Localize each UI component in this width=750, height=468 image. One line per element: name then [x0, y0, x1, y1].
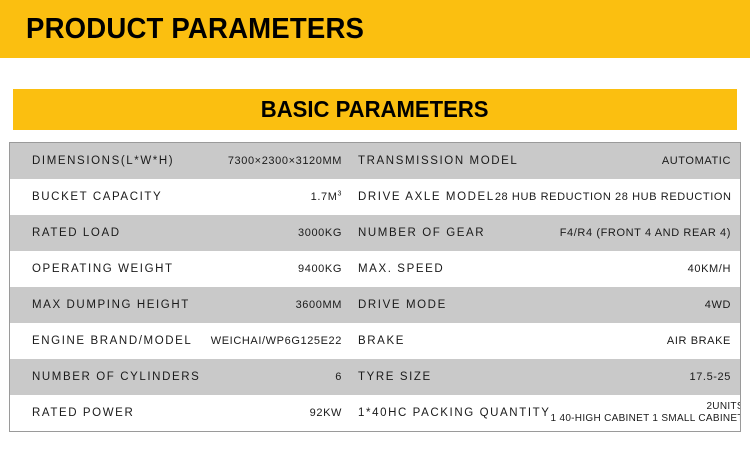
spec-value: 7300×2300×3120MM: [228, 155, 342, 167]
table-row: MAX DUMPING HEIGHT 3600MM DRIVE MODE 4WD: [10, 287, 740, 323]
spec-value: 40KM/H: [688, 263, 731, 275]
spec-cell-left: DIMENSIONS(L*W*H) 7300×2300×3120MM: [10, 143, 350, 179]
spec-value: WEICHAI/WP6G125E22: [211, 335, 342, 347]
spec-label: MAX. SPEED: [358, 263, 444, 275]
spec-cell-left: OPERATING WEIGHT 9400KG: [10, 251, 350, 287]
packing-detail: 1 40-HIGH CABINET 1 SMALL CABINET: [551, 413, 740, 426]
spec-cell-right: MAX. SPEED 40KM/H: [350, 251, 740, 287]
table-row: ENGINE BRAND/MODEL WEICHAI/WP6G125E22 BR…: [10, 323, 740, 359]
spec-label: TYRE SIZE: [358, 371, 432, 383]
spec-label: DRIVE MODE: [358, 299, 447, 311]
page-header-banner: PRODUCT PARAMETERS: [0, 0, 750, 58]
spec-cell-left: RATED LOAD 3000KG: [10, 215, 350, 251]
spec-cell-left: NUMBER OF CYLINDERS 6: [10, 359, 350, 395]
spec-label: TRANSMISSION MODEL: [358, 155, 518, 167]
spec-cell-right: TYRE SIZE 17.5-25: [350, 359, 740, 395]
spec-label: RATED POWER: [32, 407, 134, 419]
spec-value: 2UNITS 1 40-HIGH CABINET 1 SMALL CABINET: [551, 401, 740, 426]
spec-cell-left: RATED POWER 92KW: [10, 395, 350, 431]
spec-label: OPERATING WEIGHT: [32, 263, 174, 275]
spec-cell-right: DRIVE AXLE MODEL 28 HUB REDUCTION 28 HUB…: [350, 179, 740, 215]
section-header-banner: BASIC PARAMETERS: [13, 89, 737, 130]
spec-label: BUCKET CAPACITY: [32, 191, 162, 203]
spec-value: AUTOMATIC: [662, 155, 731, 167]
page-title: PRODUCT PARAMETERS: [26, 15, 364, 44]
spec-value: 3000KG: [298, 227, 342, 239]
spec-value: 17.5-25: [689, 371, 731, 383]
spec-value: F4/R4 (FRONT 4 AND REAR 4): [560, 227, 731, 239]
spec-cell-left: MAX DUMPING HEIGHT 3600MM: [10, 287, 350, 323]
spec-label: RATED LOAD: [32, 227, 121, 239]
spec-cell-right: BRAKE AIR BRAKE: [350, 323, 740, 359]
packing-units: 2UNITS: [551, 401, 740, 414]
table-row: NUMBER OF CYLINDERS 6 TYRE SIZE 17.5-25: [10, 359, 740, 395]
spec-label: ENGINE BRAND/MODEL: [32, 335, 192, 347]
spec-value: 9400KG: [298, 263, 342, 275]
table-row: RATED POWER 92KW 1*40HC PACKING QUANTITY…: [10, 395, 740, 431]
spec-cell-right: 1*40HC PACKING QUANTITY 2UNITS 1 40-HIGH…: [350, 395, 740, 431]
section-title: BASIC PARAMETERS: [261, 98, 489, 121]
spec-value: AIR BRAKE: [667, 335, 731, 347]
spec-label: NUMBER OF CYLINDERS: [32, 371, 200, 383]
spec-cell-left: BUCKET CAPACITY 1.7M3: [10, 179, 350, 215]
table-row: BUCKET CAPACITY 1.7M3 DRIVE AXLE MODEL 2…: [10, 179, 740, 215]
spec-label: 1*40HC PACKING QUANTITY: [358, 407, 551, 419]
product-parameters-page: PRODUCT PARAMETERS BASIC PARAMETERS DIME…: [0, 0, 750, 468]
spec-cell-right: NUMBER OF GEAR F4/R4 (FRONT 4 AND REAR 4…: [350, 215, 740, 251]
spec-value: 92KW: [310, 407, 342, 419]
spec-label: DRIVE AXLE MODEL: [358, 191, 495, 203]
spec-value: 1.7M3: [311, 191, 342, 203]
table-row: OPERATING WEIGHT 9400KG MAX. SPEED 40KM/…: [10, 251, 740, 287]
spec-label: MAX DUMPING HEIGHT: [32, 299, 190, 311]
cubic-superscript: 3: [338, 190, 343, 197]
spec-label: DIMENSIONS(L*W*H): [32, 155, 174, 167]
spec-cell-right: TRANSMISSION MODEL AUTOMATIC: [350, 143, 740, 179]
spec-value: 4WD: [705, 299, 731, 311]
spec-label: BRAKE: [358, 335, 405, 347]
table-row: DIMENSIONS(L*W*H) 7300×2300×3120MM TRANS…: [10, 143, 740, 179]
specifications-table: DIMENSIONS(L*W*H) 7300×2300×3120MM TRANS…: [9, 142, 741, 432]
spec-value: 3600MM: [296, 299, 342, 311]
spec-cell-left: ENGINE BRAND/MODEL WEICHAI/WP6G125E22: [10, 323, 350, 359]
spec-cell-right: DRIVE MODE 4WD: [350, 287, 740, 323]
spec-value: 28 HUB REDUCTION 28 HUB REDUCTION: [495, 191, 732, 203]
spec-value: 6: [335, 371, 342, 383]
spec-label: NUMBER OF GEAR: [358, 227, 485, 239]
table-row: RATED LOAD 3000KG NUMBER OF GEAR F4/R4 (…: [10, 215, 740, 251]
